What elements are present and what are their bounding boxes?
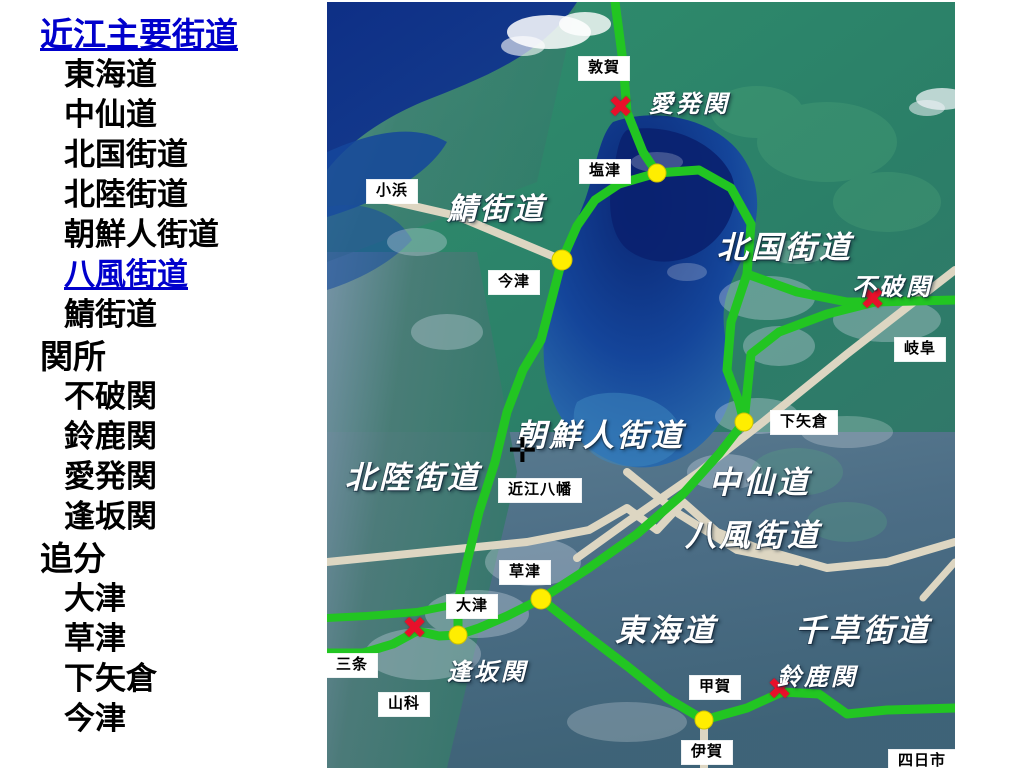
- place-label-box: 近江八幡: [499, 479, 581, 502]
- outline-item-label: 大津: [64, 581, 126, 617]
- outline-item-10: 鈴鹿関: [0, 422, 327, 453]
- outline-item-label: 朝鮮人街道: [64, 217, 219, 253]
- outline-item-label: 下矢倉: [64, 661, 157, 697]
- outline-item-5: 朝鮮人街道: [0, 220, 327, 251]
- outline-item-6[interactable]: 八風街道: [0, 260, 327, 291]
- outline-item-11: 愛発関: [0, 462, 327, 493]
- outline-item-label: 関所: [40, 337, 106, 376]
- place-label-box: 塩津: [580, 160, 630, 183]
- place-label-box: 大津: [447, 595, 497, 618]
- outline-item-label: 草津: [64, 621, 126, 657]
- outline-item-13: 追分: [0, 542, 327, 575]
- outline-item-2: 中仙道: [0, 100, 327, 131]
- outline-item-0[interactable]: 近江主要街道: [0, 18, 327, 51]
- place-label-box: 岐阜: [895, 338, 945, 361]
- slide-root: 近江主要街道東海道中仙道北国街道北陸街道朝鮮人街道八風街道鯖街道関所不破関鈴鹿関…: [0, 0, 1024, 768]
- outline-item-label: 北国街道: [64, 137, 188, 173]
- outline-item-label: 愛発関: [64, 459, 157, 495]
- outline-item-label: 逢坂関: [64, 499, 157, 535]
- outline-item-12: 逢坂関: [0, 502, 327, 533]
- place-label-box: 敦賀: [579, 57, 629, 80]
- outline-item-4: 北陸街道: [0, 180, 327, 211]
- outline-item-label[interactable]: 八風街道: [64, 257, 188, 293]
- place-label-box: 三条: [327, 654, 377, 677]
- map-graphic: [327, 2, 955, 768]
- outline-item-15: 草津: [0, 624, 327, 655]
- outline-item-16: 下矢倉: [0, 664, 327, 695]
- outline-panel: 近江主要街道東海道中仙道北国街道北陸街道朝鮮人街道八風街道鯖街道関所不破関鈴鹿関…: [0, 0, 327, 768]
- outline-item-label: 不破関: [64, 379, 157, 415]
- place-label-box: 今津: [489, 271, 539, 294]
- outline-item-label: 今津: [64, 701, 126, 737]
- outline-item-1: 東海道: [0, 60, 327, 91]
- outline-item-label[interactable]: 近江主要街道: [40, 15, 238, 54]
- outline-item-17: 今津: [0, 704, 327, 735]
- outline-item-8: 関所: [0, 340, 327, 373]
- map-panel[interactable]: ✖✖✖✖ 鯖街道北国街道北陸街道朝鮮人街道中仙道八風街道東海道千草街道不破関愛発…: [327, 2, 955, 768]
- place-label-box: 四日市: [889, 750, 955, 768]
- outline-item-label: 北陸街道: [64, 177, 188, 213]
- place-label-box: 山科: [379, 693, 429, 716]
- outline-item-label: 中仙道: [64, 97, 157, 133]
- place-label-box: 下矢倉: [771, 411, 837, 434]
- outline-item-3: 北国街道: [0, 140, 327, 171]
- place-label-box: 草津: [500, 561, 550, 584]
- outline-item-7: 鯖街道: [0, 300, 327, 331]
- place-label-box: 甲賀: [690, 676, 740, 699]
- place-label-box: 伊賀: [682, 741, 732, 764]
- place-label-box: 小浜: [367, 180, 417, 203]
- outline-item-label: 追分: [40, 539, 106, 578]
- outline-item-label: 鯖街道: [64, 297, 157, 333]
- outline-item-label: 鈴鹿関: [64, 419, 157, 455]
- outline-item-label: 東海道: [64, 57, 157, 93]
- outline-item-14: 大津: [0, 584, 327, 615]
- outline-item-9: 不破関: [0, 382, 327, 413]
